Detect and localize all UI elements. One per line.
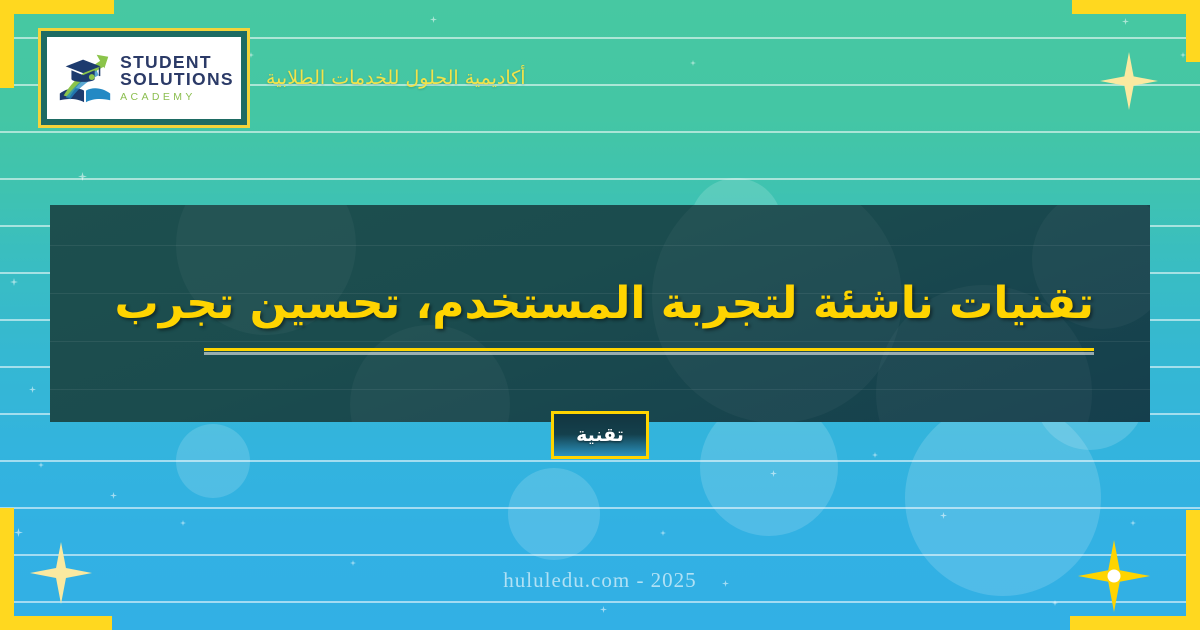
brand-header: STUDENT SOLUTIONS ACADEMY أكاديمية الحلو… (38, 28, 526, 128)
bracket-arm-horizontal (1072, 0, 1200, 14)
footer-text: hululedu.com - 2025 (0, 568, 1200, 593)
logo-frame: STUDENT SOLUTIONS ACADEMY (38, 28, 250, 128)
logo: STUDENT SOLUTIONS ACADEMY (47, 37, 241, 119)
bracket-arm-horizontal (0, 616, 112, 630)
sparkle-icon (430, 16, 437, 23)
corner-bracket-top-right (1072, 0, 1200, 62)
sparkle-icon (660, 530, 666, 536)
sparkle-icon (600, 606, 607, 613)
sparkle-icon (10, 278, 18, 286)
social-card-canvas: تقنيات ناشئة لتجربة المستخدم، تحسين تجرب (0, 0, 1200, 630)
sparkle-icon (78, 172, 87, 181)
sparkle-icon (872, 452, 878, 458)
category-badge: تقنية (551, 411, 649, 459)
logo-wordmark: STUDENT SOLUTIONS ACADEMY (120, 54, 234, 103)
logo-line-3: ACADEMY (120, 92, 234, 103)
page-title: تقنيات ناشئة لتجربة المستخدم، تحسين تجرب (115, 276, 1094, 332)
bracket-arm-vertical (0, 0, 14, 88)
sparkle-icon (690, 60, 696, 66)
sparkle-icon (940, 512, 947, 519)
organization-name: أكاديمية الحلول للخدمات الطلابية (266, 67, 526, 89)
sparkle-icon (38, 462, 44, 468)
bubble (508, 468, 600, 560)
title-underline (204, 348, 1094, 351)
sparkle-icon (1052, 600, 1058, 606)
sparkle-icon (180, 520, 186, 526)
graduation-cap-arrow-book-logo-icon (54, 47, 116, 109)
logo-line-2: SOLUTIONS (120, 71, 234, 89)
bracket-arm-vertical (1186, 0, 1200, 62)
sparkle-icon (350, 560, 356, 566)
bracket-arm-horizontal (0, 0, 114, 14)
title-block: تقنيات ناشئة لتجربة المستخدم، تحسين تجرب (50, 205, 1150, 422)
sparkle-icon (29, 386, 36, 393)
sparkle-icon (770, 470, 777, 477)
sparkle-icon (110, 492, 117, 499)
bracket-arm-horizontal (1070, 616, 1200, 630)
bubble (176, 424, 250, 498)
